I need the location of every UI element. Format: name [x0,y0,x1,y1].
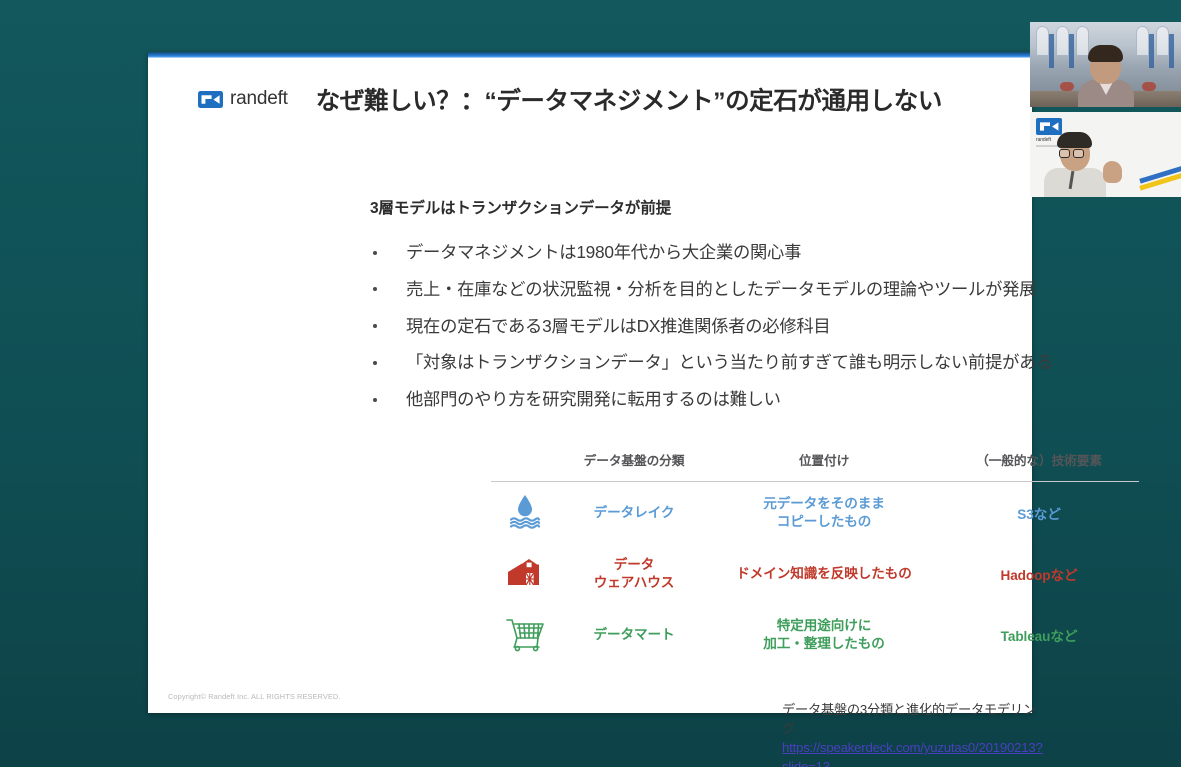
bullet-dot-icon [373,361,377,365]
pillar-decor [1049,34,1054,68]
arch-decor [1136,26,1149,56]
matrix-row-role: 特定用途向けに 加工・整理したもの [709,617,939,652]
matrix-row-name-line1: データレイク [559,504,709,521]
matrix-header-row: データ基盤の分類 位置付け （一般的な）技術要素 [491,450,1139,482]
matrix-row-role: ドメイン知識を反映したもの [709,565,939,582]
bullet-dot-icon [373,287,377,291]
citation-block: データ基盤の3分類と進化的データモデリング https://speakerdec… [782,700,1043,767]
avatar-hair [1088,45,1123,62]
citation-link[interactable]: https://speakerdeck.com/yuzutas0/2019021… [782,738,1043,767]
participant-avatar [1044,131,1118,197]
matrix-row-name-line2: ウェアハウス [559,574,709,591]
participant-video-top[interactable] [1030,22,1181,107]
bullet-text: 売上・在庫などの状況監視・分析を目的としたデータモデルの理論やツールが発展 [406,279,1036,299]
matrix-row-role: 元データをそのまま コピーしたもの [709,495,939,530]
bullet-item: 「対象はトランザクションデータ」という当たり前すぎて誰も明示しない前提がある [370,354,1170,371]
flower-decor [1060,82,1074,91]
avatar-hair [1057,132,1092,148]
matrix-row-role-line2: 加工・整理したもの [709,635,939,652]
bullet-dot-icon [373,251,377,255]
slide-header: randeft なぜ難しい？：“データマネジメント”の定石が通用しない [198,76,1018,122]
copyright-footer: Copyright© Randeft Inc. ALL RIGHTS RESER… [168,692,341,701]
matrix-row-tech: Tableauなど [939,625,1139,645]
matrix-header-tech-label: （一般的な）技術要素 [976,454,1102,468]
matrix-row-icon-cell [491,551,559,596]
bullet-dot-icon [373,398,377,402]
matrix-row-icon-cell [491,490,559,535]
bullet-text: 他部門のやり方を研究開発に転用するのは難しい [406,389,781,409]
data-platform-matrix: データ基盤の分類 位置付け （一般的な）技術要素 [491,450,1139,665]
matrix-row: データレイク 元データをそのまま コピーしたもの S3など [491,482,1139,543]
matrix-row-tech-label: S3など [1017,507,1060,522]
matrix-header-name-label: データ基盤の分類 [584,454,685,468]
pillar-decor [1169,34,1174,68]
matrix-header-name: データ基盤の分類 [559,450,709,470]
barn-warehouse-icon [505,551,545,596]
bullet-text: 現在の定石である3層モデルはDX推進関係者の必修科目 [406,316,830,336]
matrix-row-tech: Hadoopなど [939,564,1139,584]
matrix-row-name: データレイク [559,504,709,521]
randeft-logo-mark-icon [198,91,223,108]
bullet-item: データマネジメントは1980年代から大企業の関心事 [370,244,1170,261]
matrix-row-role-line1: 特定用途向けに [709,617,939,634]
pillar-decor [1149,34,1154,68]
glasses-lens-icon [1073,149,1084,158]
slide-accent-bar [148,52,1032,58]
matrix-row-tech-label: Tableauなど [1001,629,1078,644]
citation-title: データ基盤の3分類と進化的データモデリング [782,700,1043,738]
matrix-row-name: データマート [559,626,709,643]
shopping-cart-icon [504,612,546,657]
matrix-row-tech-label: Hadoopなど [1001,568,1078,583]
matrix-row-name: データ ウェアハウス [559,556,709,591]
avatar-torso [1044,168,1106,197]
avatar-hand [1103,161,1122,183]
video-rail: randeft [1030,22,1181,197]
bullet-list: データマネジメントは1980年代から大企業の関心事 売上・在庫などの状況監視・分… [370,244,1170,428]
bullet-item: 他部門のやり方を研究開発に転用するのは難しい [370,391,1170,408]
matrix-row-role-line1: ドメイン知識を反映したもの [709,565,939,582]
bullet-item: 現在の定石である3層モデルはDX推進関係者の必修科目 [370,318,1170,335]
arch-decor [1056,26,1069,56]
flower-decor [1142,82,1156,91]
arch-decor [1036,26,1049,56]
matrix-header-role-label: 位置付け [799,454,849,468]
participant-avatar [1078,45,1134,107]
glasses-lens-icon [1059,149,1070,158]
pillar-decor [1069,34,1074,68]
matrix-row-name-line1: データ [559,556,709,573]
slide-subhead: 3層モデルはトランザクションデータが前提 [370,196,671,218]
matrix-row-tech: S3など [939,503,1139,523]
slide-title: なぜ難しい？：“データマネジメント”の定石が通用しない [316,82,942,117]
matrix-row: データ ウェアハウス ドメイン知識を反映したもの Hadoopなど [491,543,1139,604]
bullet-item: 売上・在庫などの状況監視・分析を目的としたデータモデルの理論やツールが発展 [370,281,1170,298]
matrix-row-name-line1: データマート [559,626,709,643]
bullet-text: 「対象はトランザクションデータ」という当たり前すぎて誰も明示しない前提がある [406,352,1053,372]
matrix-row-role-line1: 元データをそのまま [709,495,939,512]
brand-lockup: randeft [198,88,288,110]
matrix-row-role-line2: コピーしたもの [709,513,939,530]
water-drop-waves-icon [505,490,545,535]
meeting-stage: randeft なぜ難しい？：“データマネジメント”の定石が通用しない 3層モデ… [0,0,1181,767]
matrix-header-role: 位置付け [709,450,939,470]
bullet-dot-icon [373,324,377,328]
brand-wordmark: randeft [230,88,288,110]
bullet-text: データマネジメントは1980年代から大企業の関心事 [406,242,801,262]
participant-video-bottom[interactable]: randeft [1030,112,1181,197]
matrix-row: データマート 特定用途向けに 加工・整理したもの Tableauなど [491,604,1139,665]
matrix-row-icon-cell [491,612,559,657]
arch-decor [1156,26,1169,56]
matrix-header-tech: （一般的な）技術要素 [939,450,1139,470]
presentation-slide[interactable]: randeft なぜ難しい？：“データマネジメント”の定石が通用しない 3層モデ… [148,52,1032,713]
